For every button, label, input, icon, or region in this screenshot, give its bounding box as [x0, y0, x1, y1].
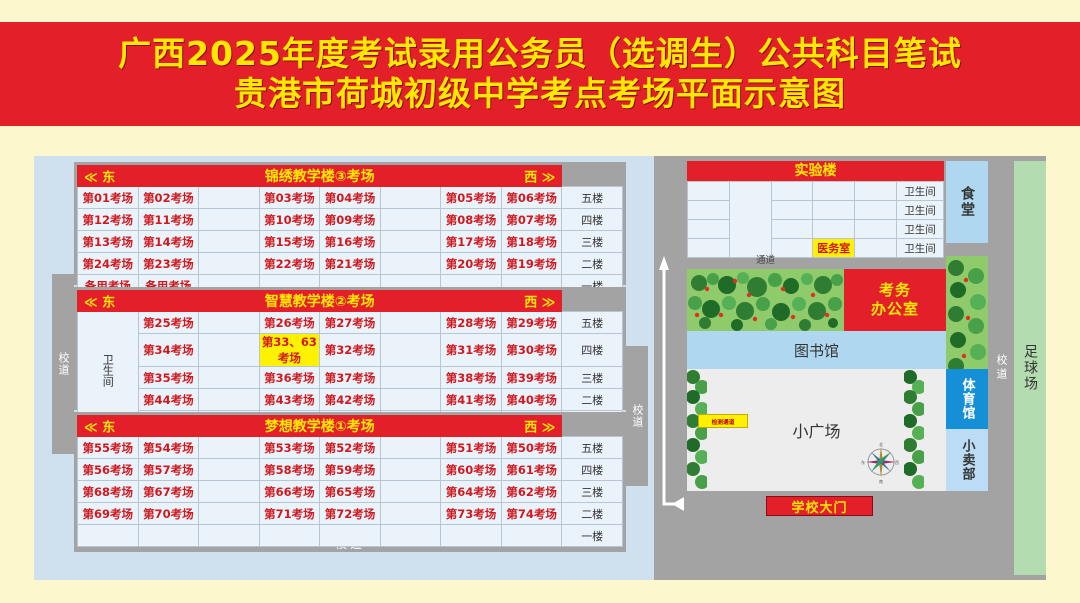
stair-gap	[380, 187, 441, 209]
table-row: 第01考场 第02考场 第03考场 第04考场 第05考场 第06考场 五楼	[78, 187, 623, 209]
room-cell[interactable]: 第55考场	[78, 437, 139, 459]
east-label-b3: ≪ 东	[84, 167, 115, 186]
stair-gap	[380, 525, 441, 547]
table-row: 第56考场 第57考场 第58考场 第59考场 第60考场 第61考场 四楼	[78, 459, 623, 481]
stair-gap	[380, 334, 441, 367]
campus-map-zone: 实验楼 卫生间 卫生间	[654, 156, 1046, 580]
table-row: 第69考场 第70考场 第71考场 第72考场 第73考场 第74考场 二楼	[78, 503, 623, 525]
building-3-wrapper: ≪ 东 锦绣教学楼③考场 西 ≫ 第01考场 第02考场 第03考场 第04考场…	[74, 162, 626, 285]
lab-building: 实验楼 卫生间 卫生间	[687, 161, 944, 258]
room-cell[interactable]: 第20考场	[441, 253, 502, 275]
room-cell[interactable]: 第19考场	[501, 253, 562, 275]
room-cell[interactable]: 第14考场	[138, 231, 199, 253]
road-right: 校道	[988, 156, 1014, 580]
lab-cell	[771, 220, 813, 239]
road-left: 校道	[52, 274, 74, 454]
room-cell[interactable]: 第06考场	[501, 187, 562, 209]
room-cell[interactable]: 第18考场	[501, 231, 562, 253]
stair-gap	[199, 231, 260, 253]
floor-label: 五楼	[562, 437, 623, 459]
room-cell[interactable]: 第11考场	[138, 209, 199, 231]
lab-cell	[855, 239, 897, 258]
building-3-header: ≪ 东 锦绣教学楼③考场 西 ≫	[78, 166, 562, 187]
library-label: 图书馆	[794, 340, 839, 361]
room-cell[interactable]: 第17考场	[441, 231, 502, 253]
room-cell[interactable]: 第12考场	[78, 209, 139, 231]
lab-stair-cell	[729, 182, 771, 258]
room-cell[interactable]: 第44考场	[138, 389, 199, 411]
room-cell[interactable]: 第70考场	[138, 503, 199, 525]
table-row: 第68考场 第67考场 第66考场 第65考场 第64考场 第62考场 三楼	[78, 481, 623, 503]
table-row: 一楼	[78, 525, 623, 547]
room-cell[interactable]: 第21考场	[320, 253, 381, 275]
room-cell[interactable]: 第56考场	[78, 459, 139, 481]
room-cell-highlighted[interactable]: 第33、63考场	[259, 334, 320, 367]
lab-building-title: 实验楼	[687, 161, 944, 181]
room-cell[interactable]: 第13考场	[78, 231, 139, 253]
building-1-table: ≪ 东 梦想教学楼①考场 西 ≫ 第55考场 第54考场 第53考场 第52考场…	[77, 415, 623, 547]
room-cell[interactable]: 第28考场	[441, 312, 502, 334]
room-cell[interactable]: 第61考场	[501, 459, 562, 481]
restroom-label: 卫生间	[101, 354, 114, 387]
shop-label: 小卖部	[958, 439, 977, 481]
school-gate-label: 学校大门	[791, 497, 847, 516]
plaza-label: 小广场	[792, 418, 840, 442]
east-label-b1: ≪ 东	[84, 417, 115, 436]
room-cell[interactable]: 第40考场	[501, 389, 562, 411]
room-cell[interactable]: 第58考场	[259, 459, 320, 481]
west-label-b1: 西 ≫	[524, 417, 555, 436]
stair-gap	[380, 481, 441, 503]
stair-gap	[380, 389, 441, 411]
room-cell-empty	[138, 525, 199, 547]
room-cell[interactable]: 第69考场	[78, 503, 139, 525]
table-row: 第44考场 第43考场 第42考场 第41考场 第40考场 二楼	[78, 389, 623, 411]
building-2-wrapper: ≪ 东 智慧教学楼②考场 西 ≫ 卫生间 第25考场 第26考场 第27考场	[74, 287, 626, 410]
table-row: 第12考场 第11考场 第10考场 第09考场 第08考场 第07考场 四楼	[78, 209, 623, 231]
table-row: 第55考场 第54考场 第53考场 第52考场 第51考场 第50考场 五楼	[78, 437, 623, 459]
room-cell[interactable]: 第07考场	[501, 209, 562, 231]
table-row: 卫生间	[688, 220, 944, 239]
room-cell-empty	[259, 525, 320, 547]
room-cell[interactable]: 第38考场	[441, 367, 502, 389]
floor-label: 五楼	[562, 187, 623, 209]
room-cell[interactable]: 第54考场	[138, 437, 199, 459]
lab-restroom: 卫生间	[897, 220, 944, 239]
hedge-icon-right	[904, 369, 924, 491]
stair-gap	[380, 437, 441, 459]
svg-text:东: 东	[861, 459, 865, 465]
room-cell[interactable]: 第60考场	[441, 459, 502, 481]
passage-label: 通道	[687, 254, 844, 268]
shop: 小卖部	[946, 429, 988, 491]
room-cell[interactable]: 第74考场	[501, 503, 562, 525]
stair-gap	[199, 187, 260, 209]
room-cell[interactable]: 第65考场	[320, 481, 381, 503]
building-1-header: ≪ 东 梦想教学楼①考场 西 ≫	[78, 416, 562, 437]
room-cell[interactable]: 第36考场	[259, 367, 320, 389]
lab-cell	[688, 201, 730, 220]
exam-admin-office[interactable]: 考务 办公室	[844, 269, 946, 331]
room-cell-empty	[441, 525, 502, 547]
building-3-table: ≪ 东 锦绣教学楼③考场 西 ≫ 第01考场 第02考场 第03考场 第04考场…	[77, 165, 623, 297]
buildings-zone: 校道 校道 校道 ≪ 东 锦绣教学楼③考场 西 ≫	[34, 156, 654, 580]
room-cell[interactable]: 第32考场	[320, 334, 381, 367]
compass-rose-icon: 北 南 东 西	[859, 440, 903, 484]
canteen: 食堂	[946, 161, 988, 243]
room-cell-empty	[501, 525, 562, 547]
room-cell[interactable]: 第50考场	[501, 437, 562, 459]
gymnasium: 体育馆	[946, 369, 988, 429]
room-cell[interactable]: 第29考场	[501, 312, 562, 334]
room-cell[interactable]: 第22考场	[259, 253, 320, 275]
office-label-line2: 办公室	[871, 300, 919, 318]
lab-cell	[813, 201, 855, 220]
room-cell[interactable]: 第03考场	[259, 187, 320, 209]
stair-gap	[199, 367, 260, 389]
stair-gap	[199, 459, 260, 481]
table-row: 第24考场 第23考场 第22考场 第21考场 第20考场 第19考场 二楼	[78, 253, 623, 275]
floor-label: 三楼	[562, 481, 623, 503]
room-cell[interactable]: 第26考场	[259, 312, 320, 334]
building-2-header: ≪ 东 智慧教学楼②考场 西 ≫	[78, 291, 562, 312]
building-1-wrapper: ≪ 东 梦想教学楼①考场 西 ≫ 第55考场 第54考场 第53考场 第52考场…	[74, 412, 626, 535]
floor-label: 四楼	[562, 209, 623, 231]
route-arrow-icon	[656, 254, 686, 512]
room-cell-empty	[78, 525, 139, 547]
checkpoint-label: 检测通道	[712, 417, 735, 426]
lab-cell	[813, 220, 855, 239]
room-cell[interactable]: 第71考场	[259, 503, 320, 525]
floor-label: 二楼	[562, 503, 623, 525]
floor-label: 三楼	[562, 367, 623, 389]
room-cell[interactable]: 第25考场	[138, 312, 199, 334]
table-row: 卫生间	[688, 201, 944, 220]
road-middle-label: 校道	[630, 404, 644, 428]
room-cell[interactable]: 第59考场	[320, 459, 381, 481]
floor-label: 五楼	[562, 312, 623, 334]
building-3-title: 锦绣教学楼③考场	[265, 169, 375, 185]
west-label-b3: 西 ≫	[524, 167, 555, 186]
stair-gap	[380, 209, 441, 231]
lab-restroom: 卫生间	[897, 239, 944, 258]
room-cell[interactable]: 第43考场	[259, 389, 320, 411]
table-row: 卫生间	[688, 182, 944, 201]
lab-building-table: 卫生间 卫生间 卫生间	[687, 181, 944, 258]
hedge-icon-left	[687, 369, 707, 491]
stair-gap	[199, 209, 260, 231]
room-cell[interactable]: 第64考场	[441, 481, 502, 503]
title-banner: 广西2025年度考试录用公务员（选调生）公共科目笔试 贵港市荷城初级中学考点考场…	[0, 22, 1080, 126]
room-cell[interactable]: 第31考场	[441, 334, 502, 367]
lab-cell	[855, 201, 897, 220]
room-cell[interactable]: 第41考场	[441, 389, 502, 411]
stair-gap	[380, 367, 441, 389]
east-label-b2: ≪ 东	[84, 292, 115, 311]
room-cell-empty	[320, 525, 381, 547]
stair-gap	[380, 253, 441, 275]
hedge-right	[904, 369, 924, 491]
lab-restroom: 卫生间	[897, 182, 944, 201]
floor-label: 三楼	[562, 231, 623, 253]
room-cell[interactable]: 第35考场	[138, 367, 199, 389]
room-cell[interactable]: 第53考场	[259, 437, 320, 459]
stair-gap	[199, 334, 260, 367]
stair-gap	[199, 525, 260, 547]
room-cell[interactable]: 第57考场	[138, 459, 199, 481]
stair-gap	[199, 481, 260, 503]
lab-cell	[688, 220, 730, 239]
building-1-title: 梦想教学楼①考场	[265, 419, 375, 435]
room-cell[interactable]: 第42考场	[320, 389, 381, 411]
svg-text:北: 北	[879, 441, 883, 447]
room-cell[interactable]: 第68考场	[78, 481, 139, 503]
stair-gap	[199, 503, 260, 525]
lab-cell	[855, 182, 897, 201]
banner-line-2: 贵港市荷城初级中学考点考场平面示意图	[234, 74, 846, 114]
svg-text:南: 南	[879, 478, 883, 484]
room-cell[interactable]: 第05考场	[441, 187, 502, 209]
lab-cell	[771, 201, 813, 220]
table-row: 第35考场 第36考场 第37考场 第38考场 第39考场 三楼	[78, 367, 623, 389]
office-label-line1: 考务	[879, 281, 911, 299]
stair-gap	[199, 253, 260, 275]
football-field: 足球场	[1014, 161, 1046, 575]
floor-label: 二楼	[562, 389, 623, 411]
gymnasium-label: 体育馆	[958, 378, 977, 420]
lab-cell	[688, 182, 730, 201]
room-cell[interactable]: 第15考场	[259, 231, 320, 253]
lab-cell	[855, 220, 897, 239]
room-cell[interactable]: 第08考场	[441, 209, 502, 231]
main-panel: 校道 校道 校道 ≪ 东 锦绣教学楼③考场 西 ≫	[34, 156, 1046, 580]
floor-label: 二楼	[562, 253, 623, 275]
room-cell[interactable]: 第66考场	[259, 481, 320, 503]
room-cell[interactable]: 第23考场	[138, 253, 199, 275]
room-cell[interactable]: 第01考场	[78, 187, 139, 209]
stair-gap	[380, 459, 441, 481]
lab-cell	[771, 182, 813, 201]
stair-gap	[199, 437, 260, 459]
room-cell[interactable]: 第30考场	[501, 334, 562, 367]
room-cell[interactable]: 第67考场	[138, 481, 199, 503]
stair-gap	[199, 389, 260, 411]
checkpoint-badge[interactable]: 检测通道	[698, 414, 748, 428]
svg-text:西: 西	[895, 460, 899, 465]
room-cell[interactable]: 第73考场	[441, 503, 502, 525]
library: 图书馆	[687, 331, 946, 369]
room-cell[interactable]: 第34考场	[138, 334, 199, 367]
banner-line-1: 广西2025年度考试录用公务员（选调生）公共科目笔试	[118, 34, 962, 74]
lab-cell	[813, 182, 855, 201]
lab-restroom: 卫生间	[897, 201, 944, 220]
room-cell[interactable]: 第16考场	[320, 231, 381, 253]
room-cell[interactable]: 第39考场	[501, 367, 562, 389]
hedge-left	[687, 369, 707, 491]
west-label-b2: 西 ≫	[524, 292, 555, 311]
stair-gap	[380, 312, 441, 334]
floor-label: 一楼	[562, 525, 623, 547]
garden-area	[687, 269, 844, 331]
floor-label: 四楼	[562, 334, 623, 367]
table-row: 卫生间 第25考场 第26考场 第27考场 第28考场 第29考场 五楼	[78, 312, 623, 334]
room-cell[interactable]: 第10考场	[259, 209, 320, 231]
table-row: 第13考场 第14考场 第15考场 第16考场 第17考场 第18考场 三楼	[78, 231, 623, 253]
stair-gap	[380, 231, 441, 253]
room-cell[interactable]: 第04考场	[320, 187, 381, 209]
room-cell[interactable]: 第09考场	[320, 209, 381, 231]
room-cell[interactable]: 第62考场	[501, 481, 562, 503]
school-gate[interactable]: 学校大门	[766, 496, 873, 516]
road-right-label: 校道	[993, 354, 1009, 382]
room-cell[interactable]: 第52考场	[320, 437, 381, 459]
room-cell[interactable]: 第37考场	[320, 367, 381, 389]
football-field-label: 足球场	[1020, 344, 1040, 392]
room-cell[interactable]: 第27考场	[320, 312, 381, 334]
stair-gap	[199, 312, 260, 334]
floor-label: 四楼	[562, 459, 623, 481]
room-cell[interactable]: 第02考场	[138, 187, 199, 209]
room-cell[interactable]: 第72考场	[320, 503, 381, 525]
building-2-title: 智慧教学楼②考场	[265, 294, 375, 310]
table-row: 第34考场 第33、63考场 第32考场 第31考场 第30考场 四楼	[78, 334, 623, 367]
stair-gap	[380, 503, 441, 525]
tree-icon-cluster	[687, 269, 844, 331]
room-cell[interactable]: 第24考场	[78, 253, 139, 275]
road-middle: 校道	[626, 346, 648, 486]
canteen-label: 食堂	[957, 186, 977, 218]
exam-site-floorplan: 广西2025年度考试录用公务员（选调生）公共科目笔试 贵港市荷城初级中学考点考场…	[0, 0, 1080, 603]
road-left-label: 校道	[56, 352, 70, 376]
room-cell[interactable]: 第51考场	[441, 437, 502, 459]
